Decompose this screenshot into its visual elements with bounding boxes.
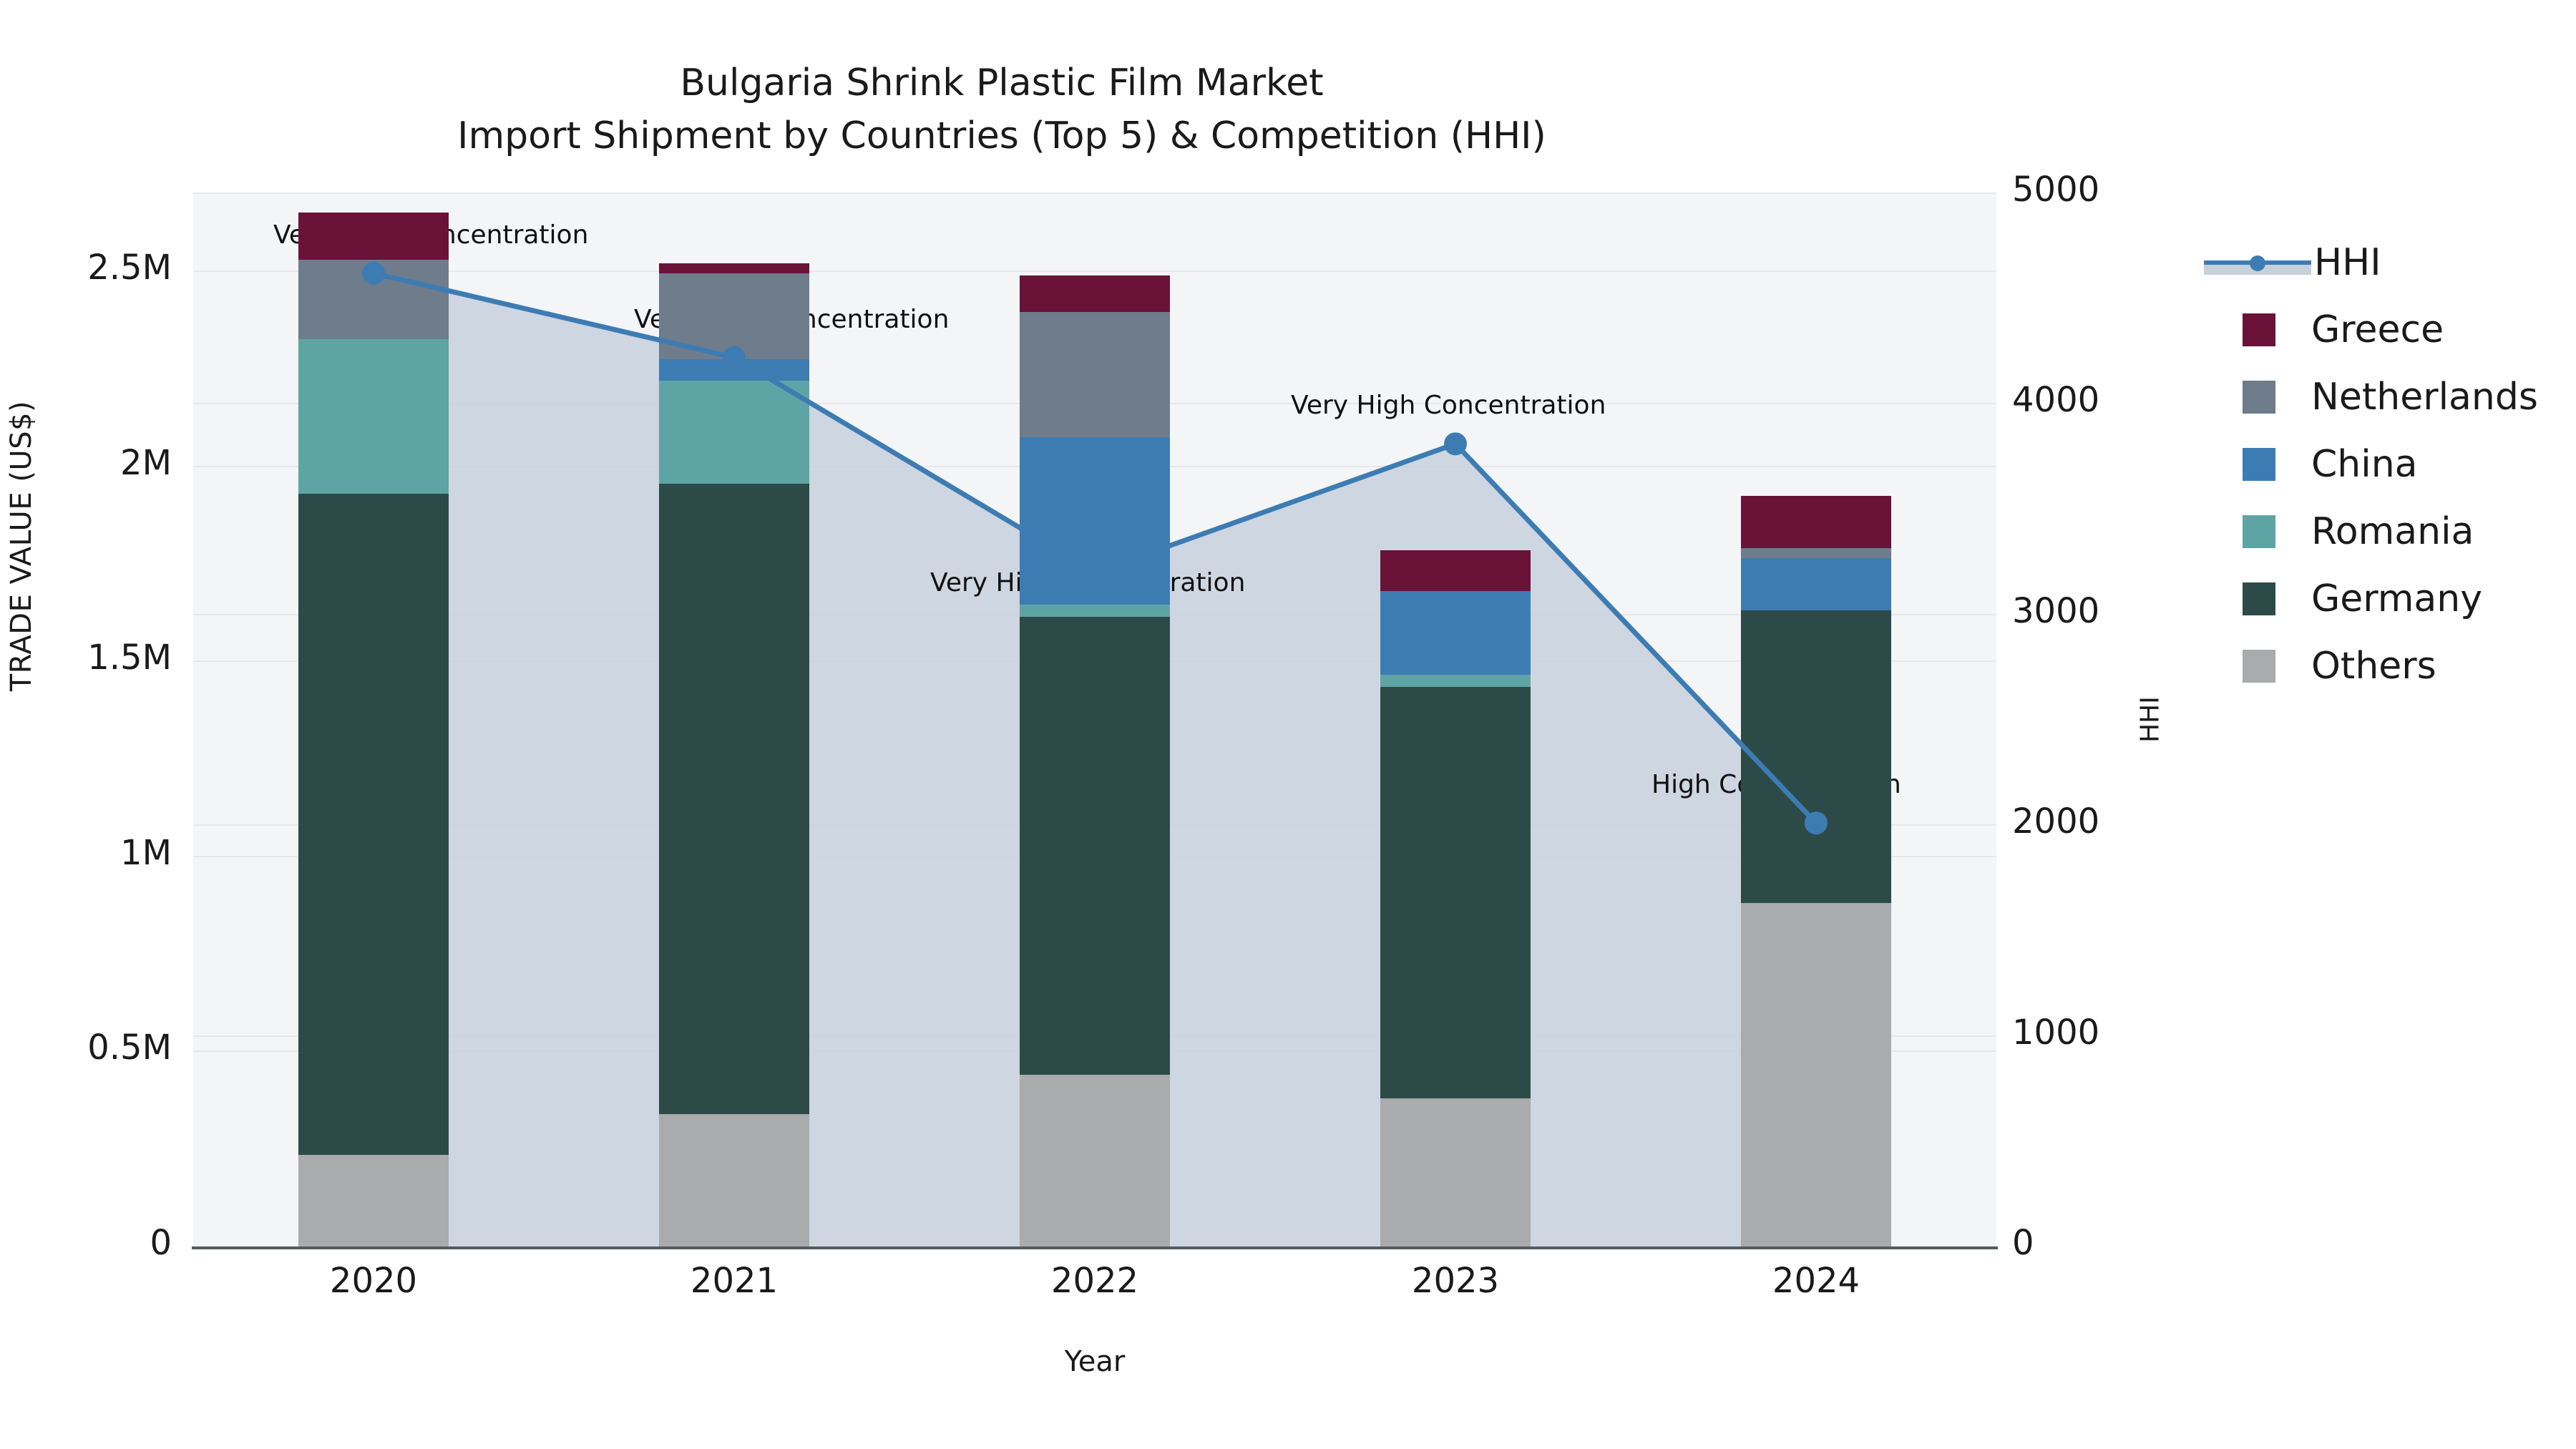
y-axis-right-tick-label: 3000 (2012, 591, 2099, 631)
bar-stack-2023[interactable] (1380, 193, 1531, 1246)
bar-segment-netherlands-2021[interactable] (659, 273, 809, 359)
legend-label: Greece (2311, 308, 2444, 351)
legend-item-hhi[interactable]: HHI (2204, 229, 2576, 296)
legend-item-greece[interactable]: Greece (2204, 296, 2576, 364)
bar-segment-romania-2021[interactable] (659, 381, 809, 484)
legend-swatch-romania (2243, 515, 2275, 548)
y-axis-right-tick-label: 1000 (2012, 1013, 2099, 1053)
bar-stack-2024[interactable] (1741, 193, 1891, 1246)
bar-stack-2022[interactable] (1020, 193, 1170, 1246)
x-axis-tick-label-2022: 2022 (980, 1261, 1209, 1301)
bar-segment-china-2022[interactable] (1020, 437, 1170, 605)
bar-segment-others-2024[interactable] (1741, 903, 1891, 1246)
x-axis-line (192, 1246, 1998, 1249)
bar-segment-china-2024[interactable] (1741, 558, 1891, 611)
bar-segment-netherlands-2020[interactable] (298, 260, 449, 340)
bar-segment-netherlands-2024[interactable] (1741, 548, 1891, 558)
legend-item-netherlands[interactable]: Netherlands (2204, 364, 2576, 431)
legend-item-romania[interactable]: Romania (2204, 498, 2576, 565)
legend-label: Others (2311, 645, 2436, 688)
bar-segment-china-2023[interactable] (1380, 591, 1531, 675)
legend-swatch-germany (2243, 582, 2275, 615)
chart-legend: HHIGreeceNetherlandsChinaRomaniaGermanyO… (2204, 229, 2576, 700)
y-axis-right-label: HHI (2136, 648, 2165, 791)
bar-segment-others-2021[interactable] (659, 1114, 809, 1246)
legend-label: China (2311, 443, 2418, 486)
chart-root: Bulgaria Shrink Plastic Film Market Impo… (0, 0, 2576, 1449)
bar-segment-germany-2020[interactable] (298, 494, 449, 1155)
legend-line-marker-icon (2204, 246, 2311, 279)
legend-swatch-netherlands (2243, 381, 2275, 414)
legend-label: Netherlands (2311, 376, 2538, 419)
legend-item-germany[interactable]: Germany (2204, 565, 2576, 633)
bar-segment-germany-2022[interactable] (1020, 617, 1170, 1075)
y-axis-right-tick-label: 4000 (2012, 380, 2099, 420)
bar-segment-others-2020[interactable] (298, 1155, 449, 1246)
bar-segment-greece-2024[interactable] (1741, 496, 1891, 549)
legend-dot-icon (2250, 255, 2265, 271)
y-axis-left-tick-label: 2.5M (0, 248, 172, 288)
y-axis-left-tick-label: 0 (0, 1223, 172, 1263)
bar-segment-romania-2023[interactable] (1380, 675, 1531, 686)
bar-segment-romania-2020[interactable] (298, 339, 449, 493)
bar-segment-greece-2022[interactable] (1020, 275, 1170, 313)
bar-segment-greece-2020[interactable] (298, 213, 449, 259)
x-axis-tick-label-2024: 2024 (1702, 1261, 1931, 1301)
y-axis-right-tick-label: 2000 (2012, 801, 2099, 841)
bar-segment-germany-2021[interactable] (659, 484, 809, 1113)
bar-segment-china-2021[interactable] (659, 359, 809, 381)
x-axis-tick-label-2020: 2020 (259, 1261, 488, 1301)
bar-segment-others-2023[interactable] (1380, 1098, 1531, 1246)
legend-item-others[interactable]: Others (2204, 633, 2576, 700)
bar-segment-greece-2021[interactable] (659, 263, 809, 273)
legend-label: HHI (2314, 241, 2381, 284)
legend-swatch-china (2243, 448, 2275, 481)
bar-segment-romania-2022[interactable] (1020, 605, 1170, 616)
bar-stack-2021[interactable] (659, 193, 809, 1246)
x-axis-tick-label-2021: 2021 (620, 1261, 849, 1301)
bar-segment-netherlands-2022[interactable] (1020, 312, 1170, 436)
bar-segment-germany-2023[interactable] (1380, 687, 1531, 1098)
chart-title-block: Bulgaria Shrink Plastic Film Market Impo… (0, 57, 2004, 163)
legend-label: Romania (2311, 510, 2474, 553)
chart-subtitle: Import Shipment by Countries (Top 5) & C… (0, 110, 2004, 163)
y-axis-left-tick-label: 1M (0, 833, 172, 873)
x-axis-tick-label-2023: 2023 (1341, 1261, 1570, 1301)
bar-stack-2020[interactable] (298, 193, 449, 1246)
legend-item-china[interactable]: China (2204, 431, 2576, 498)
y-axis-left-tick-label: 0.5M (0, 1028, 172, 1068)
x-axis-label: Year (193, 1345, 1996, 1378)
bar-segment-germany-2024[interactable] (1741, 610, 1891, 903)
legend-label: Germany (2311, 577, 2482, 620)
y-axis-left-label: TRADE VALUE (US$) (5, 367, 38, 725)
bar-segment-others-2022[interactable] (1020, 1075, 1170, 1246)
bar-segment-greece-2023[interactable] (1380, 550, 1531, 591)
legend-swatch-greece (2243, 313, 2275, 346)
y-axis-right-tick-label: 0 (2012, 1223, 2034, 1263)
legend-swatch-others (2243, 650, 2275, 683)
y-axis-right-tick-label: 5000 (2012, 170, 2099, 210)
chart-title: Bulgaria Shrink Plastic Film Market (0, 57, 2004, 110)
